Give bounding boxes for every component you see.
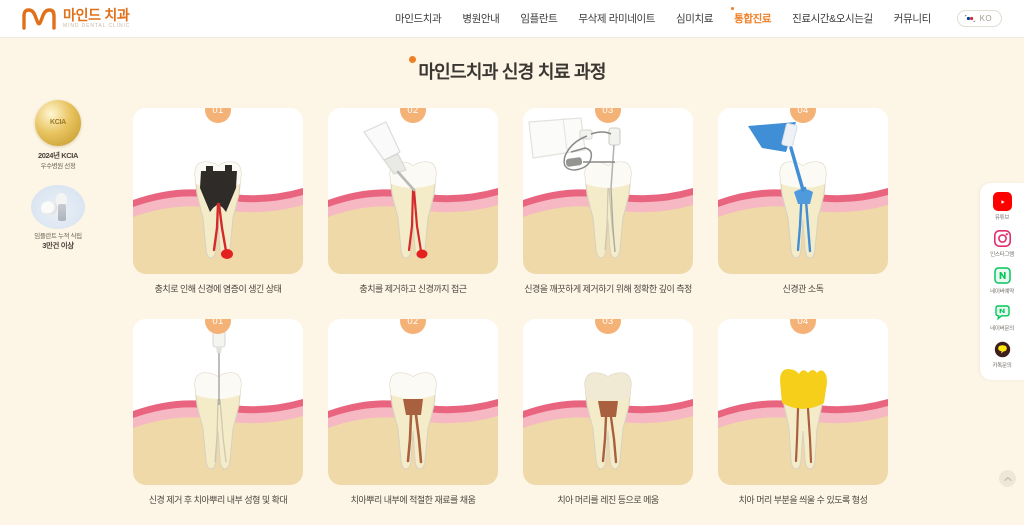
badge-kcia-line2: 우수병원 선정 (35, 162, 81, 171)
step-caption-1: 충치로 인해 신경에 염증이 생긴 상태 (133, 283, 303, 296)
step-cell-6: 02 치아뿌리 내부에 적절한 재료를 채움 (328, 319, 498, 507)
steps-row-2: 01 (133, 319, 893, 507)
step-caption-7: 치아 머리를 레진 등으로 메움 (523, 494, 693, 507)
nav-item-aesthetic[interactable]: 심미치료 (676, 11, 713, 26)
step-cell-2: 02 (328, 108, 498, 296)
step-card-4[interactable]: 04 (718, 108, 888, 274)
step-caption-6: 치아뿌리 내부에 적절한 재료를 채움 (328, 494, 498, 507)
implant-icon (31, 185, 85, 229)
mind-logo-icon (22, 8, 56, 30)
step-card-8[interactable]: 04 (718, 319, 888, 485)
canal-disinfection-illustration (718, 108, 888, 274)
decayed-tooth-inflamed-nerve-illustration (133, 108, 303, 274)
youtube-icon (993, 192, 1012, 211)
step-cell-3: 03 (523, 108, 693, 296)
page-title-area: 마인드치과 신경 치료 과정 (0, 58, 1024, 84)
step-card-3[interactable]: 03 (523, 108, 693, 274)
canal-filled-material-illustration (328, 319, 498, 485)
step-cell-5: 01 (133, 319, 303, 507)
logo[interactable]: 마인드 치과 MIND DENTAL CLINIC (22, 8, 130, 30)
nav-item-laminate[interactable]: 무삭제 라미네이트 (578, 11, 655, 26)
instagram-icon (993, 229, 1012, 248)
rail-label-kakao: 카톡문의 (992, 361, 1011, 369)
step-cell-7: 03 치아 머리를 레진 등으로 메움 (523, 319, 693, 507)
naver-talk-icon (993, 303, 1012, 322)
language-selector[interactable]: KO (957, 10, 1002, 27)
step-caption-4: 신경관 소독 (718, 283, 888, 296)
language-label: KO (980, 14, 992, 23)
step-card-1[interactable]: 01 (133, 108, 303, 274)
step-card-6[interactable]: 02 (328, 319, 498, 485)
step-cell-1: 01 충치로 인해 신경에 염증이 생긴 상태 (133, 108, 303, 296)
nav-item-integrated-care-label: 통합진료 (734, 13, 771, 25)
badge-kcia-line1: 2024년 KCIA (35, 151, 81, 162)
badge-implant-line1: 임플란트 누적 식립 (31, 232, 85, 241)
step-cell-8: 04 치아 머리 부분을 씌울 수 있도록 형성 (718, 319, 888, 507)
step-caption-3: 신경을 깨끗하게 제거하기 위해 정확한 깊이 측정 (523, 283, 693, 296)
medal-inner-text: KCIA (50, 119, 66, 127)
page-title: 마인드치과 신경 치료 과정 (418, 58, 605, 84)
logo-subtitle: MIND DENTAL CLINIC (63, 24, 130, 29)
rail-item-naver-reservation[interactable]: 네이버예약 (980, 266, 1024, 295)
treatment-steps-grid: 01 충치로 인해 신경에 염증이 생긴 상태 (133, 108, 893, 507)
rail-item-kakao[interactable]: 카톡문의 (980, 340, 1024, 369)
nav-item-clinic[interactable]: 마인드치과 (395, 11, 441, 26)
file-shaping-canal-illustration (133, 319, 303, 485)
social-quick-rail: 유튜브 인스타그램 네이버예약 네이버문의 (980, 183, 1024, 380)
rail-label-youtube: 유튜브 (995, 213, 1009, 221)
main-navigation: 마인드치과 병원안내 임플란트 무삭제 라미네이트 심미치료 통합진료 진료시간… (395, 11, 931, 26)
nav-active-dot-icon (731, 7, 734, 10)
step-card-5[interactable]: 01 (133, 319, 303, 485)
implant-screw-shape (58, 204, 66, 221)
page-title-text: 마인드치과 신경 치료 과정 (418, 62, 605, 82)
nav-item-community[interactable]: 커뮤니티 (894, 11, 931, 26)
nav-item-hours-directions[interactable]: 진료시간&오시는길 (792, 11, 873, 26)
step-caption-8: 치아 머리 부분을 씌울 수 있도록 형성 (718, 494, 888, 507)
naver-reservation-icon (993, 266, 1012, 285)
scroll-to-top-button[interactable] (999, 470, 1016, 487)
step-cell-4: 04 (718, 108, 888, 296)
korea-flag-icon (964, 14, 976, 23)
badge-kcia-award[interactable]: KCIA 2024년 KCIA 우수병원 선정 (35, 100, 81, 171)
step-caption-5: 신경 제거 후 치아뿌리 내부 성형 및 확대 (133, 494, 303, 507)
drill-removing-decay-illustration (328, 108, 498, 274)
chevron-up-icon (1004, 476, 1012, 482)
nav-item-implant[interactable]: 임플란트 (520, 11, 557, 26)
rail-label-instagram: 인스타그램 (990, 250, 1014, 258)
gold-medal-icon: KCIA (35, 100, 81, 146)
badge-implant-line2: 3만건 이상 (31, 241, 85, 252)
step-card-2[interactable]: 02 (328, 108, 498, 274)
kakao-icon (993, 340, 1012, 359)
nav-item-guide[interactable]: 병원안내 (462, 11, 499, 26)
gold-crown-placed-illustration (718, 319, 888, 485)
apex-locator-measuring-illustration (523, 108, 693, 274)
nav-item-integrated-care[interactable]: 통합진료 (734, 11, 771, 26)
rail-item-instagram[interactable]: 인스타그램 (980, 229, 1024, 258)
logo-title: 마인드 치과 (63, 8, 130, 22)
title-dot-icon (409, 56, 416, 63)
rail-label-naver-talk: 네이버문의 (990, 324, 1014, 332)
rail-item-youtube[interactable]: 유튜브 (980, 192, 1024, 221)
site-header: 마인드 치과 MIND DENTAL CLINIC 마인드치과 병원안내 임플란… (0, 0, 1024, 38)
crown-core-resin-filling-illustration (523, 319, 693, 485)
steps-row-1: 01 충치로 인해 신경에 염증이 생긴 상태 (133, 108, 893, 296)
rail-item-naver-talk[interactable]: 네이버문의 (980, 303, 1024, 332)
badge-implant-count[interactable]: 임플란트 누적 식립 3만건 이상 (31, 185, 85, 252)
rail-label-naver-reservation: 네이버예약 (990, 287, 1014, 295)
left-badge-rail: KCIA 2024년 KCIA 우수병원 선정 임플란트 누적 식립 3만건 이… (22, 100, 94, 251)
step-card-7[interactable]: 03 (523, 319, 693, 485)
step-caption-2: 충치를 제거하고 신경까지 접근 (328, 283, 498, 296)
implant-crown-shape (41, 201, 57, 215)
